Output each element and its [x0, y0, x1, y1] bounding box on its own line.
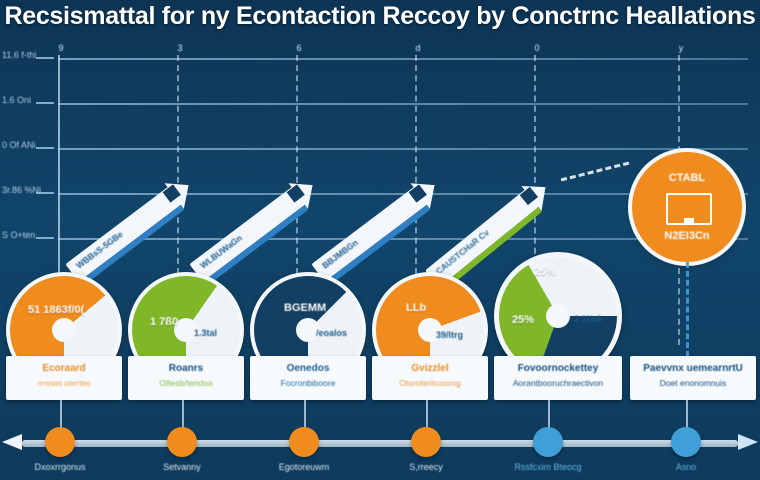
- gauge-5-secondary: 3 1Ur6: [574, 314, 602, 324]
- x-tick-5: 0: [533, 43, 541, 55]
- card-1-title: Ecoraard: [6, 363, 122, 374]
- infographic-canvas: Recsismattal for ny Econtaction Reccoy b…: [0, 0, 760, 480]
- y-tick-dash-4: [36, 192, 54, 194]
- gauge-3-percent: BGEMM: [284, 302, 326, 314]
- card-6[interactable]: Paevvnx uemearnrtU Doet enonomnuis: [630, 356, 756, 400]
- gauge-1-hole: [52, 318, 76, 342]
- timeline: Dxoxrrgonus Setvanny Egotoreuwm S,rreecy…: [0, 438, 760, 448]
- monitor-icon: [666, 193, 712, 225]
- y-tick-dash-3: [36, 147, 54, 149]
- hero-top-label: CTABL: [632, 172, 742, 184]
- gauge-5-percent-top: 25%: [534, 266, 556, 278]
- timeline-node-6[interactable]: [671, 427, 701, 457]
- arrow-right-icon: [738, 434, 758, 450]
- timeline-node-5[interactable]: [533, 427, 563, 457]
- card-4[interactable]: Gvizzlel Otoroteritcoorog: [372, 356, 488, 400]
- hero-bottom-label: N2EI3Cn: [632, 230, 742, 242]
- timeline-node-4[interactable]: [411, 427, 441, 457]
- gauge-1-percent: 51 1863f/0(: [28, 304, 84, 316]
- card-2[interactable]: Roanrs O8esb/tendoa: [128, 356, 244, 400]
- card-3[interactable]: Oenedos Focronbiboore: [250, 356, 366, 400]
- card-2-title: Roanrs: [128, 363, 244, 374]
- card-1-subtitle: rrreset oarrtes: [6, 378, 122, 388]
- card-3-subtitle: Focronbiboore: [250, 378, 366, 388]
- x-tick-4: d: [414, 43, 422, 55]
- card-1[interactable]: Ecoraard rrreset oarrtes: [6, 356, 122, 400]
- y-tick-dash-5: [36, 237, 54, 239]
- timeline-node-2[interactable]: [167, 427, 197, 457]
- gauge-4-secondary: 39/ltrg: [436, 330, 463, 340]
- timeline-node-1[interactable]: [45, 427, 75, 457]
- card-4-subtitle: Otoroteritcoorog: [372, 378, 488, 388]
- card-3-title: Oenedos: [250, 363, 366, 374]
- timeline-label-5: Rssfcxim Bteocg: [483, 462, 613, 472]
- arrow-left-icon: [2, 434, 22, 450]
- gauge-2-percent: 1 7ß0: [150, 316, 178, 328]
- card-5-title: Fovoornockettey: [494, 363, 622, 374]
- timeline-label-6: Asno: [621, 462, 751, 472]
- card-5[interactable]: Fovoornockettey Aorantbooruchraectivon: [494, 356, 622, 400]
- page-title: Recsismattal for ny Econtaction Reccoy b…: [0, 2, 760, 42]
- y-tick-dash-2: [36, 102, 54, 104]
- card-6-title: Paevvnx uemearnrtU: [630, 363, 756, 374]
- y-tick-dash-1: [36, 57, 54, 59]
- gauge-3-secondary: /eoalos: [316, 328, 347, 338]
- hero-stem: [686, 262, 689, 357]
- gridline-2: [58, 103, 748, 105]
- card-4-title: Gvizzlel: [372, 363, 488, 374]
- gauge-5-hole: [546, 304, 570, 328]
- gauge-2-secondary: 1.3tal: [194, 328, 217, 338]
- timeline-bar: [22, 440, 738, 447]
- timeline-label-3: Egotoreuwm: [239, 462, 369, 472]
- timeline-label-1: Dxoxrrgonus: [0, 462, 125, 472]
- x-tick-2: 3: [176, 43, 184, 55]
- gridline-3: [58, 148, 748, 150]
- gauge-4-percent: LLb: [406, 302, 426, 314]
- gauge-5-percent: 25%: [512, 314, 534, 326]
- x-tick-1: 9: [57, 43, 65, 55]
- x-tick-6: y: [677, 43, 685, 55]
- hero-circle[interactable]: CTABL N2EI3Cn: [632, 152, 742, 262]
- card-5-subtitle: Aorantbooruchraectivon: [494, 378, 622, 388]
- x-tick-3: 6: [295, 43, 303, 55]
- gridline-1: [58, 58, 748, 60]
- timeline-label-4: S,rreecy: [361, 462, 491, 472]
- card-6-subtitle: Doet enonomnuis: [630, 378, 756, 388]
- card-2-subtitle: O8esb/tendoa: [128, 378, 244, 388]
- timeline-node-3[interactable]: [289, 427, 319, 457]
- timeline-label-2: Setvanny: [117, 462, 247, 472]
